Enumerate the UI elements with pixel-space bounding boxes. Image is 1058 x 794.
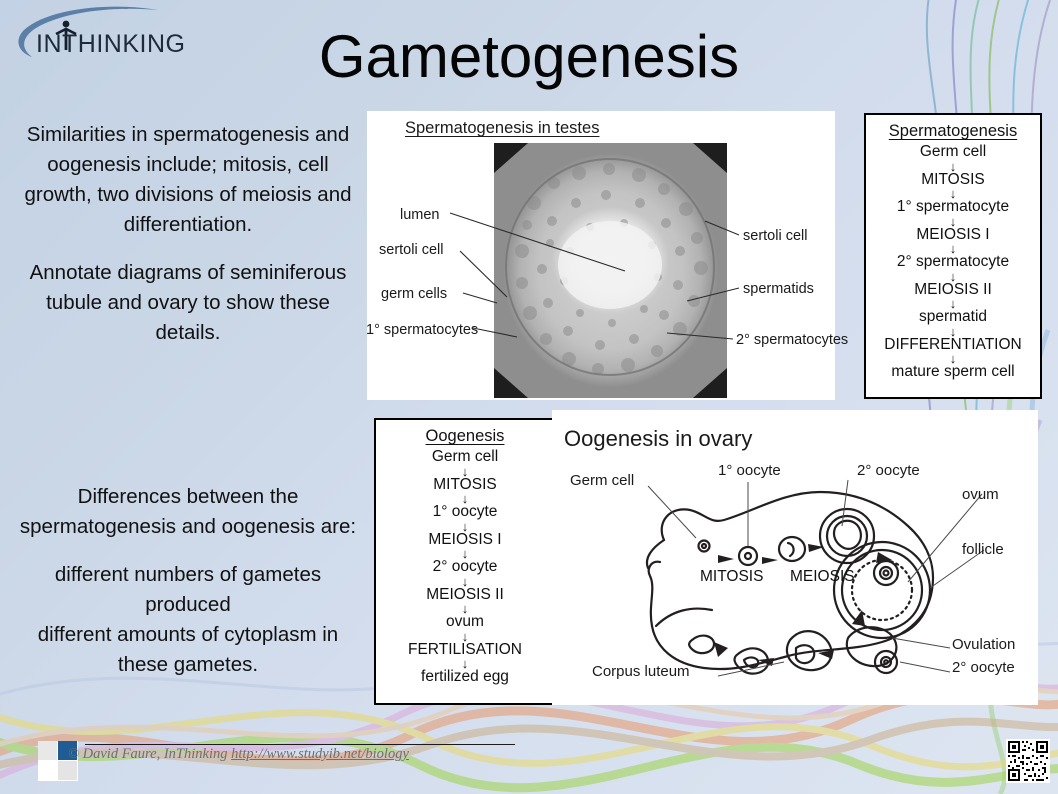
label-lumen: lumen: [400, 207, 440, 223]
footer-divider: [85, 744, 515, 745]
label-sertoli-cell-left: sertoli cell: [379, 242, 443, 258]
flow-arrow-icon: ↓: [376, 631, 554, 642]
flow-arrow-icon: ↓: [866, 271, 1040, 282]
label-spermatids: spermatids: [743, 281, 814, 297]
oogenesis-flow-steps: Germ cell ↓ MITOSIS ↓ 1° oocyte ↓ MEIOSI…: [376, 449, 554, 686]
left-text-column-top: Similarities in spermatogenesis and ooge…: [18, 120, 358, 366]
testes-panel-title: Spermatogenesis in testes: [405, 119, 599, 138]
qr-code-icon[interactable]: [1006, 739, 1050, 783]
ovary-label-follicle: follicle: [962, 541, 1004, 558]
label-primary-spermatocytes: 1° spermatocytes: [366, 322, 478, 338]
flow-arrow-icon: ↓: [376, 521, 554, 532]
spermatogenesis-flow-box: Spermatogenesis Germ cell ↓ MITOSIS ↓ 1°…: [864, 113, 1042, 399]
slide-root: INTHINKING Gametogenesis Similarities in…: [0, 0, 1058, 794]
ovary-label-primary-oocyte: 1° oocyte: [718, 462, 781, 479]
ovary-stage-meiosis: MEIOSIS: [790, 568, 855, 586]
differences-paragraph: Differences between the spermatogenesis …: [18, 482, 358, 542]
footer-url-link[interactable]: http://www.studyib.net/biology: [231, 746, 409, 762]
ovary-stage-mitosis: MITOSIS: [700, 568, 763, 586]
flow-arrow-icon: ↓: [866, 326, 1040, 337]
label-sertoli-cell-right: sertoli cell: [743, 228, 807, 244]
spermatogenesis-flow-steps: Germ cell ↓ MITOSIS ↓ 1° spermatocyte ↓ …: [866, 144, 1040, 381]
flow-arrow-icon: ↓: [866, 216, 1040, 227]
differences-list-paragraph: different numbers of gametes produced di…: [18, 560, 358, 680]
seminiferous-tubule-micrograph: [494, 143, 727, 398]
left-text-column-bottom: Differences between the spermatogenesis …: [18, 482, 358, 698]
flow-step: mature sperm cell: [866, 364, 1040, 381]
annotate-paragraph: Annotate diagrams of seminiferous tubule…: [18, 258, 358, 348]
footer-credit: © David Faure, InThinking http://www.stu…: [68, 746, 409, 763]
ovary-label-corpus-luteum: Corpus luteum: [592, 663, 690, 680]
flow-step: fertilized egg: [376, 669, 554, 686]
ovary-label-secondary-oocyte: 2° oocyte: [857, 462, 920, 479]
spermatogenesis-flow-title: Spermatogenesis: [866, 122, 1040, 141]
flow-arrow-icon: ↓: [376, 466, 554, 477]
label-germ-cells: germ cells: [381, 286, 447, 302]
oogenesis-flow-title: Oogenesis: [376, 427, 554, 446]
spermatogenesis-testes-panel: Spermatogenesis in testes: [367, 111, 835, 400]
oogenesis-ovary-panel: Oogenesis in ovary: [552, 410, 1038, 705]
ovary-label-germ-cell: Germ cell: [570, 472, 634, 489]
similarities-paragraph: Similarities in spermatogenesis and ooge…: [18, 120, 358, 240]
flow-arrow-icon: ↓: [376, 576, 554, 587]
ovary-label-ovulation-oocyte: 2° oocyte: [952, 659, 1015, 676]
flow-arrow-icon: ↓: [866, 161, 1040, 172]
footer-copyright: © David Faure, InThinking: [68, 746, 231, 762]
label-secondary-spermatocytes: 2° spermatocytes: [736, 332, 848, 348]
page-title: Gametogenesis: [0, 22, 1058, 91]
ovary-label-ovum: ovum: [962, 486, 999, 503]
ovary-label-ovulation: Ovulation: [952, 636, 1015, 653]
oogenesis-flow-box: Oogenesis Germ cell ↓ MITOSIS ↓ 1° oocyt…: [374, 418, 556, 705]
